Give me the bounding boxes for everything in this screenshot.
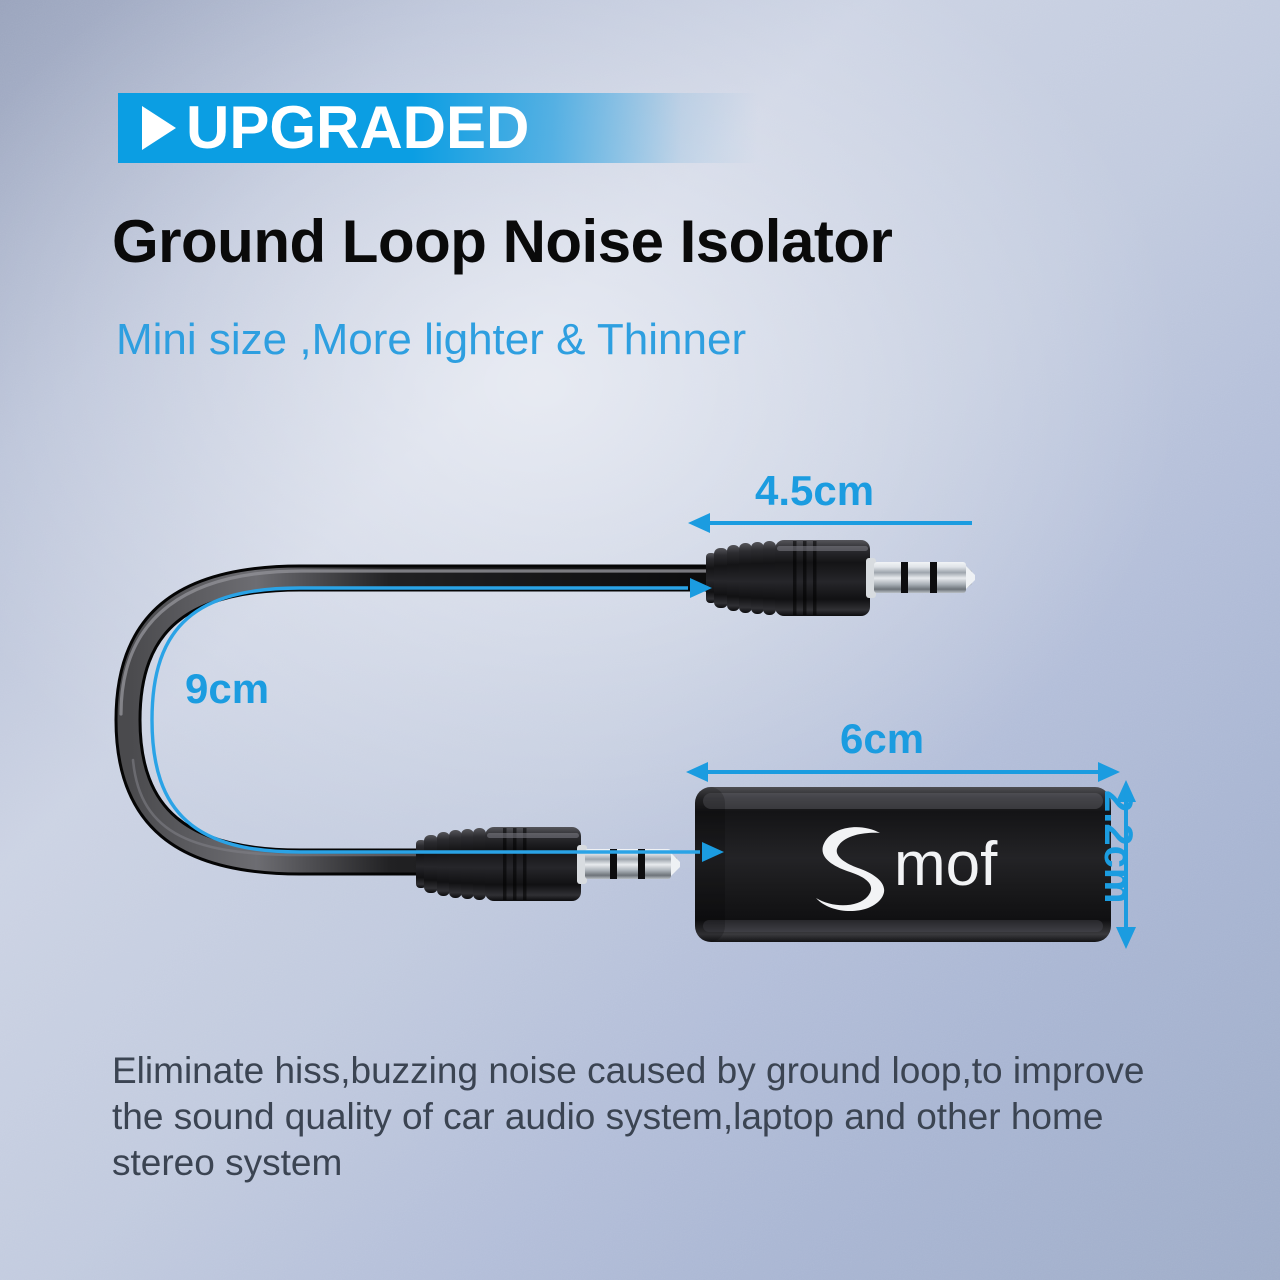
product-infographic: UPGRADED Ground Loop Noise Isolator Mini… [0, 0, 1280, 1280]
brand-logo-smof: mof [816, 827, 998, 911]
dimension-arrows [152, 513, 1136, 949]
product-description: Eliminate hiss,buzzing noise caused by g… [112, 1048, 1202, 1186]
dimension-label-cable-length: 9cm [185, 668, 269, 710]
isolator-body [695, 787, 1111, 942]
dimension-arrow-4-5cm [688, 513, 972, 533]
connector-plug-lower [416, 827, 680, 901]
cable [121, 571, 712, 862]
dimension-label-body-height: 2.2cm [1098, 790, 1138, 903]
svg-text:mof: mof [894, 830, 998, 899]
upgraded-banner: UPGRADED [118, 93, 758, 163]
connector-plug-upper [706, 540, 975, 616]
dimension-arrow-6cm [686, 762, 1120, 782]
dimension-label-body-width: 6cm [840, 718, 924, 760]
dimension-label-plug-length: 4.5cm [755, 470, 874, 512]
play-triangle-icon [142, 106, 176, 150]
dimension-arrow-9cm [152, 578, 724, 862]
upgraded-banner-label: UPGRADED [186, 98, 529, 158]
page-title: Ground Loop Noise Isolator [112, 207, 892, 276]
page-subtitle: Mini size ,More lighter & Thinner [116, 315, 746, 365]
